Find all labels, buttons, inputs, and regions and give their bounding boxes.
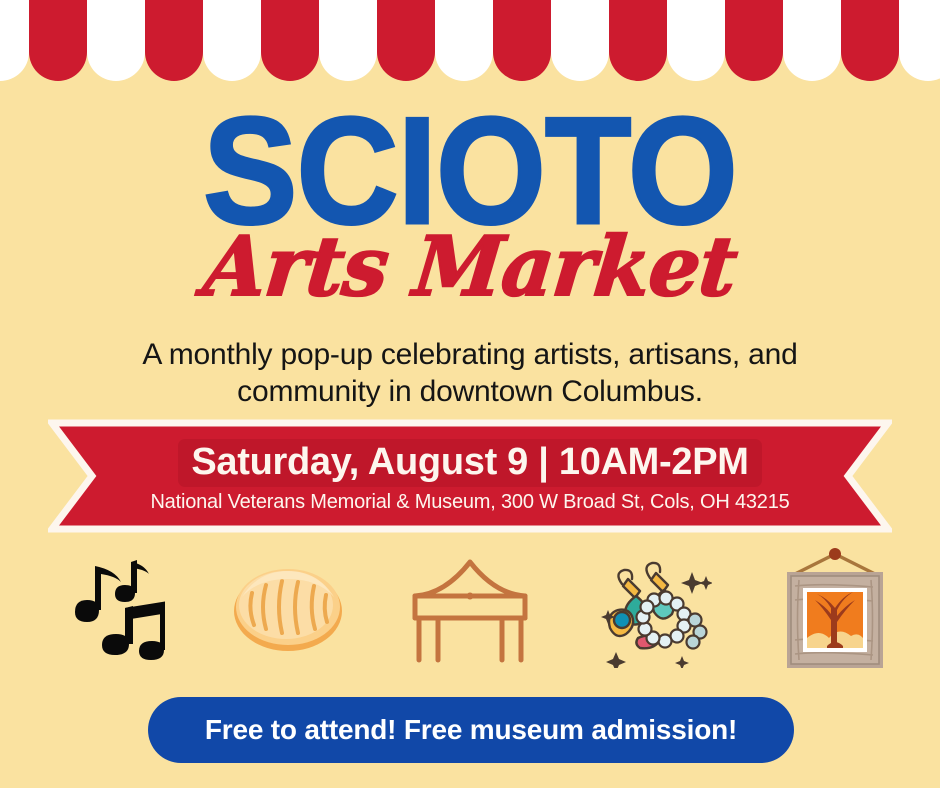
free-admission-cta-button[interactable]: Free to attend! Free museum admission! bbox=[148, 697, 794, 763]
ribbon-text-group: Saturday, August 9 | 10AM-2PM National V… bbox=[48, 419, 892, 533]
event-details-ribbon: Saturday, August 9 | 10AM-2PM National V… bbox=[48, 419, 892, 533]
striped-awning bbox=[0, 0, 940, 90]
bread-loaf-icon bbox=[213, 543, 363, 673]
page-subtitle-script: Arts Market bbox=[5, 224, 935, 310]
tagline: A monthly pop-up celebrating artists, ar… bbox=[70, 336, 870, 410]
music-notes-icon bbox=[30, 543, 180, 673]
event-datetime: Saturday, August 9 | 10AM-2PM bbox=[178, 439, 761, 487]
event-location: National Veterans Memorial & Museum, 300… bbox=[150, 489, 789, 515]
framed-picture-icon bbox=[760, 543, 910, 673]
poster-title-block: SCIOTO Arts Market bbox=[0, 96, 940, 326]
market-tent-icon bbox=[395, 543, 545, 673]
awning-scallops bbox=[0, 0, 940, 81]
event-poster: SCIOTO Arts Market A monthly pop-up cele… bbox=[0, 0, 940, 788]
category-icon-row bbox=[0, 540, 940, 675]
jewelry-icon bbox=[577, 543, 727, 673]
